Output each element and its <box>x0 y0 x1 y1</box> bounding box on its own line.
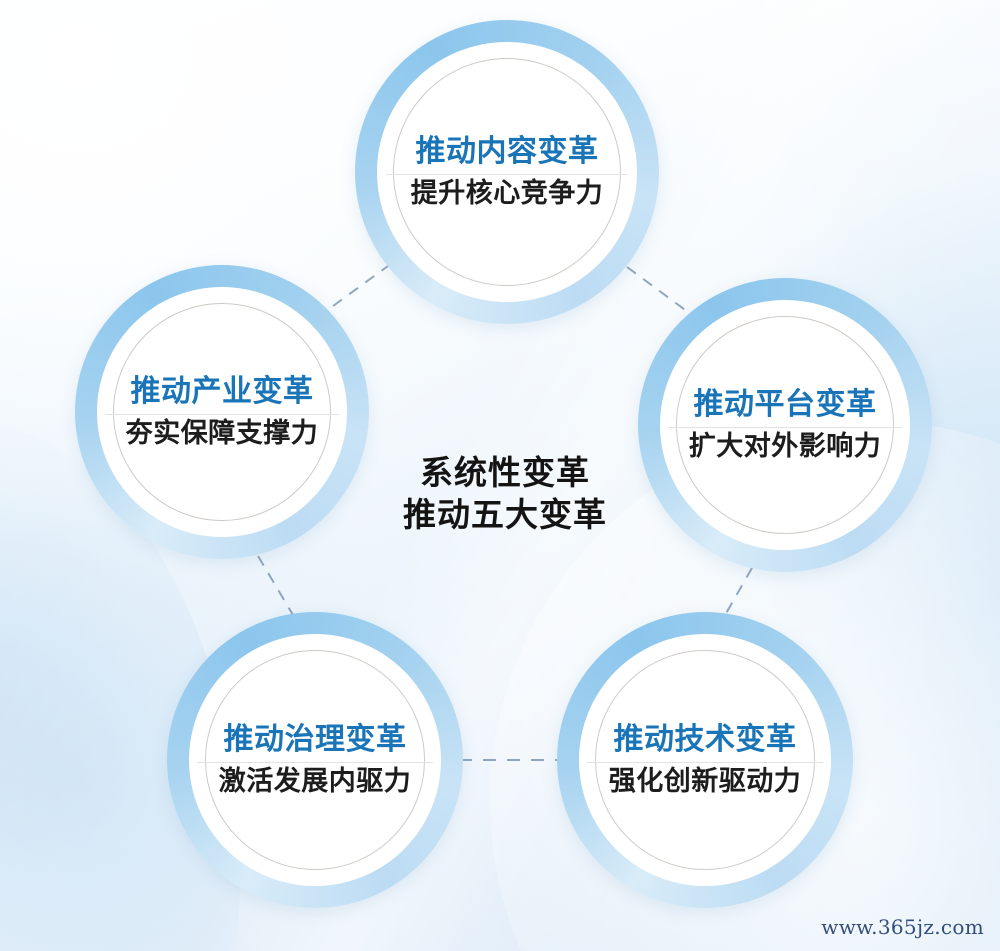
node-subtitle-governance-reform: 激活发展内驱力 <box>175 767 455 797</box>
node-divider-governance-reform <box>197 762 432 763</box>
node-governance-reform[interactable]: 推动治理变革 激活发展内驱力 <box>167 612 463 908</box>
center-title-line-2: 推动五大变革 <box>345 494 665 536</box>
node-title-technology-reform: 推动技术变革 <box>565 723 845 757</box>
connector-content-to-platform <box>627 267 688 312</box>
watermark-url: www.365jz.com <box>821 915 984 939</box>
node-text-governance-reform: 推动治理变革 激活发展内驱力 <box>167 723 463 797</box>
center-label: 系统性变革 推动五大变革 <box>345 452 665 536</box>
node-text-content-reform: 推动内容变革 提升核心竞争力 <box>355 135 659 209</box>
node-title-governance-reform: 推动治理变革 <box>175 723 455 757</box>
node-title-industry-reform: 推动产业变革 <box>83 375 361 409</box>
connector-industry-to-content <box>333 266 388 306</box>
node-divider-technology-reform <box>587 762 822 763</box>
connector-industry-to-governance <box>258 556 296 620</box>
node-divider-industry-reform <box>105 414 339 415</box>
node-industry-reform[interactable]: 推动产业变革 夯实保障支撑力 <box>75 265 369 559</box>
node-subtitle-industry-reform: 夯实保障支撑力 <box>83 419 361 449</box>
node-title-platform-reform: 推动平台变革 <box>646 388 924 422</box>
node-subtitle-platform-reform: 扩大对外影响力 <box>646 432 924 462</box>
node-platform-reform[interactable]: 推动平台变革 扩大对外影响力 <box>638 278 932 572</box>
node-text-industry-reform: 推动产业变革 夯实保障支撑力 <box>75 375 369 449</box>
node-divider-content-reform <box>386 174 628 175</box>
node-title-content-reform: 推动内容变革 <box>363 135 651 169</box>
node-text-platform-reform: 推动平台变革 扩大对外影响力 <box>638 388 932 462</box>
node-divider-platform-reform <box>668 427 902 428</box>
node-content-reform[interactable]: 推动内容变革 提升核心竞争力 <box>355 20 659 324</box>
node-text-technology-reform: 推动技术变革 强化创新驱动力 <box>557 723 853 797</box>
node-subtitle-content-reform: 提升核心竞争力 <box>363 179 651 209</box>
infographic-canvas: 推动内容变革 提升核心竞争力 推动产业变革 夯实保障支撑力 推动平台变革 扩大对… <box>0 0 1000 951</box>
node-technology-reform[interactable]: 推动技术变革 强化创新驱动力 <box>557 612 853 908</box>
center-title-line-1: 系统性变革 <box>345 452 665 494</box>
node-subtitle-technology-reform: 强化创新驱动力 <box>565 767 845 797</box>
